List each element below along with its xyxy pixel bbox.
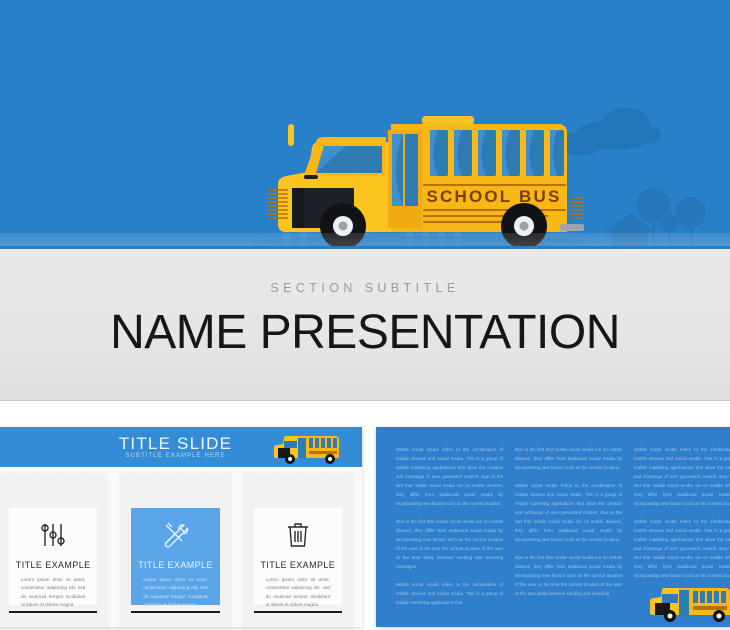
card-underline [131,611,219,614]
card-title: TITLE EXAMPLE [138,560,213,570]
school-bus-svg: SCHOOL BUS [248,106,598,249]
text-slide-thumbnail[interactable]: Mobile social media refers to the combin… [376,427,730,627]
section-subtitle: SECTION SUBTITLE [0,281,730,295]
title-band: SECTION SUBTITLE NAME PRESENTATION [0,249,730,401]
paragraph: Mobile social media refers to the combin… [634,445,730,508]
feature-card[interactable]: TITLE EXAMPLE Lorem ipsum dolor sit amet… [254,508,342,605]
card-column: TITLE EXAMPLE Lorem ipsum dolor sit amet… [0,473,109,627]
feature-card-highlighted[interactable]: TITLE EXAMPLE Lorem ipsum dolor sit amet… [131,508,219,605]
paragraph: Mobile social media refers to the combin… [634,517,730,580]
card-column: TITLE EXAMPLE Lorem ipsum dolor sit amet… [242,473,354,627]
paragraph: Mobile social media refers to the combin… [396,580,503,607]
paragraph: Mobile social media refers to the combin… [515,481,622,544]
card-column: TITLE EXAMPLE Lorem ipsum dolor sit amet… [119,473,231,627]
tree-canopy [659,213,678,232]
paragraph: Due to the fact that mobile social media… [515,553,622,598]
card-underline [254,611,342,614]
text-column: Mobile social media refers to the combin… [396,445,503,611]
cloud-shape [633,126,661,144]
hero-banner: SCHOOL BUS [0,0,730,249]
bus-side-label: SCHOOL BUS [426,187,561,206]
paragraph: Due to the fact that mobile social media… [515,445,622,472]
tools-icon [158,518,192,552]
thumbnail-card-row: TITLE EXAMPLE Lorem ipsum dolor sit amet… [0,467,362,627]
house-roof [604,213,656,233]
trash-icon [281,518,315,552]
thumbnail-header: TITLE SLIDE SUBTITLE EXAMPLE HERE [0,427,362,467]
slide-thumbnail-strip: TITLE SLIDE SUBTITLE EXAMPLE HERE [0,427,730,630]
card-text: Lorem ipsum dolor sit amet, consectetur … [9,576,97,610]
paragraph: Mobile social media refers to the combin… [396,445,503,508]
card-title: TITLE EXAMPLE [260,560,335,570]
card-text: Lorem ipsum dolor sit amet, consectetur … [131,576,219,610]
page-title: NAME PRESENTATION [0,305,730,360]
presentation-template-preview: SCHOOL BUS [0,0,730,630]
card-underline [9,611,97,614]
text-column: Due to the fact that mobile social media… [515,445,622,611]
paragraph: Due to the fact that mobile social media… [396,517,503,571]
school-bus-illustration: SCHOOL BUS [248,106,598,249]
title-slide-thumbnail[interactable]: TITLE SLIDE SUBTITLE EXAMPLE HERE [0,427,362,627]
sliders-icon [36,518,70,552]
feature-card[interactable]: TITLE EXAMPLE Lorem ipsum dolor sit amet… [9,508,97,605]
card-text: Lorem ipsum dolor sit amet, consectetur … [254,576,342,610]
tree-canopy [675,197,706,228]
school-bus-icon [268,432,346,464]
card-title: TITLE EXAMPLE [16,560,91,570]
school-bus-icon [643,583,730,623]
